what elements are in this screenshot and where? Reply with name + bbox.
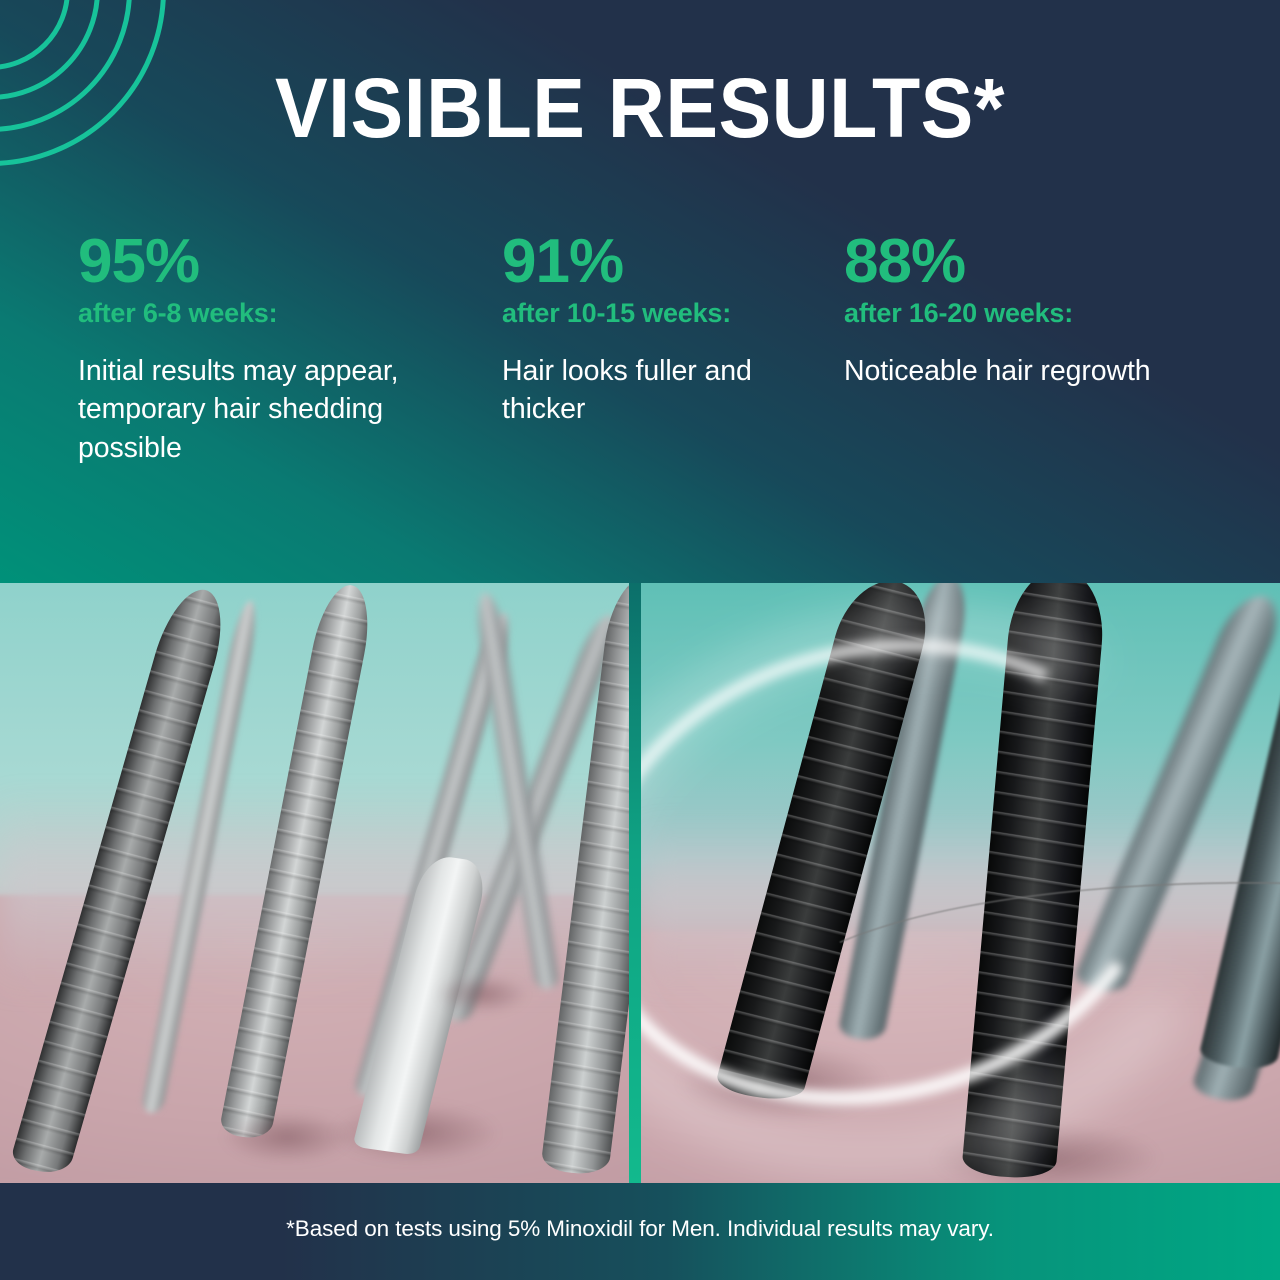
arc-ring-1 (0, 0, 70, 70)
stats-row: 95% after 6-8 weeks: Initial results may… (0, 230, 1280, 530)
stat-period: after 16-20 weeks: (844, 297, 1256, 329)
infographic-page: VISIBLE RESULTS* 95% after 6-8 weeks: In… (0, 0, 1280, 1280)
stat-column-3: 88% after 16-20 weeks: Noticeable hair r… (824, 230, 1280, 530)
panel-divider (629, 583, 641, 1183)
stat-description: Initial results may appear, temporary ha… (78, 352, 428, 468)
stat-description: Noticeable hair regrowth (844, 352, 1256, 391)
scene-background-right (641, 583, 1280, 1183)
hair-base-shadow (436, 975, 528, 1013)
page-title: VISIBLE RESULTS* (38, 66, 1241, 150)
panel-after-thick-hair (641, 583, 1280, 1183)
stat-percent: 95% (78, 230, 428, 293)
panel-before-thin-hair (0, 583, 629, 1183)
header-section: VISIBLE RESULTS* 95% after 6-8 weeks: In… (0, 0, 1280, 583)
disclaimer-text: *Based on tests using 5% Minoxidil for M… (0, 1215, 1280, 1242)
stat-description: Hair looks fuller and thicker (502, 352, 800, 430)
stat-column-2: 91% after 10-15 weeks: Hair looks fuller… (452, 230, 824, 530)
footer-section: *Based on tests using 5% Minoxidil for M… (0, 1183, 1280, 1280)
stat-period: after 6-8 weeks: (78, 297, 428, 329)
stat-percent: 88% (844, 230, 1256, 293)
stat-percent: 91% (502, 230, 800, 293)
comparison-panels (0, 583, 1280, 1183)
scene-background-left (0, 583, 629, 1183)
stat-column-1: 95% after 6-8 weeks: Initial results may… (0, 230, 452, 530)
hair-base-shadow (222, 1111, 352, 1163)
stat-period: after 10-15 weeks: (502, 297, 800, 329)
